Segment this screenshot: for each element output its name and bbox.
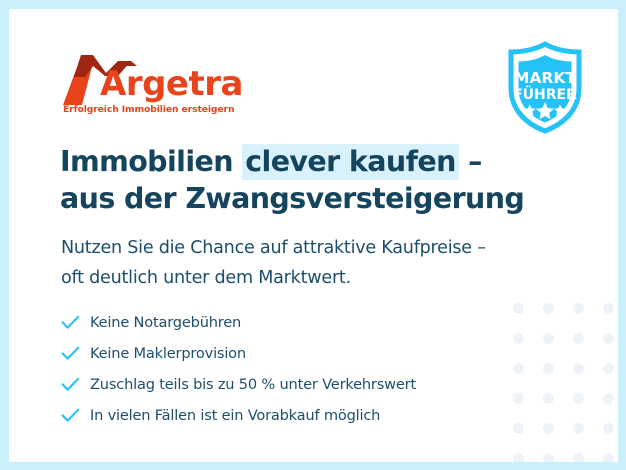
headline-line1-before: Immobilien — [60, 145, 242, 178]
grid-dot — [543, 453, 554, 462]
grid-dot — [573, 303, 584, 314]
grid-dot — [513, 303, 524, 314]
check-icon — [61, 346, 90, 361]
subtitle-line2: oft deutlich unter dem Marktwert. — [61, 268, 351, 288]
feature-list: Keine NotargebührenKeine Maklerprovision… — [61, 307, 491, 431]
grid-dot — [543, 423, 554, 434]
page-title: Immobilien clever kaufen – aus der Zwang… — [60, 143, 530, 217]
dot-grid-decoration — [513, 303, 618, 462]
grid-dot — [543, 393, 554, 404]
grid-dot — [573, 453, 584, 462]
promo-banner: Argetra Erfolgreich Immobilien ersteiger… — [0, 0, 626, 470]
list-item: Keine Notargebühren — [61, 307, 491, 338]
grid-dot — [543, 303, 554, 314]
grid-dot — [513, 453, 524, 462]
grid-dot — [513, 393, 524, 404]
headline-line1-after: – — [459, 145, 482, 178]
grid-dot — [513, 363, 524, 374]
subtitle: Nutzen Sie die Chance auf attraktive Kau… — [61, 233, 541, 293]
markt-fuehrer-shield-badge: MARKT FÜHRER — [497, 38, 593, 136]
grid-dot — [513, 333, 524, 344]
list-item: Keine Maklerprovision — [61, 338, 491, 369]
check-icon — [61, 408, 90, 423]
grid-dot — [603, 453, 614, 462]
grid-dot — [573, 393, 584, 404]
list-item-label: Zuschlag teils bis zu 50 % unter Verkehr… — [90, 376, 416, 393]
grid-dot — [603, 363, 614, 374]
list-item: In vielen Fällen ist ein Vorabkauf mögli… — [61, 400, 491, 431]
grid-dot — [573, 423, 584, 434]
badge-line2: FÜHRER — [513, 85, 577, 103]
banner-card: Argetra Erfolgreich Immobilien ersteiger… — [9, 9, 618, 462]
subtitle-line1: Nutzen Sie die Chance auf attraktive Kau… — [61, 238, 486, 258]
badge-line1: MARKT — [514, 69, 576, 87]
grid-dot — [573, 363, 584, 374]
list-item: Zuschlag teils bis zu 50 % unter Verkehr… — [61, 369, 491, 400]
logo-wordmark: Argetra — [100, 67, 243, 101]
grid-dot — [603, 393, 614, 404]
list-item-label: Keine Maklerprovision — [90, 345, 246, 362]
check-icon — [61, 315, 90, 330]
list-item-label: In vielen Fällen ist ein Vorabkauf mögli… — [90, 407, 380, 424]
logo-tagline: Erfolgreich Immobilien ersteigern — [63, 104, 234, 115]
headline-highlight: clever kaufen — [242, 144, 459, 180]
grid-dot — [603, 333, 614, 344]
grid-dot — [573, 333, 584, 344]
grid-dot — [543, 363, 554, 374]
grid-dot — [603, 303, 614, 314]
check-icon — [61, 377, 90, 392]
grid-dot — [543, 333, 554, 344]
grid-dot — [603, 423, 614, 434]
headline-line2: aus der Zwangsversteigerung — [60, 182, 524, 215]
argetra-logo[interactable]: Argetra Erfolgreich Immobilien ersteiger… — [60, 53, 250, 115]
list-item-label: Keine Notargebühren — [90, 314, 241, 331]
grid-dot — [513, 423, 524, 434]
